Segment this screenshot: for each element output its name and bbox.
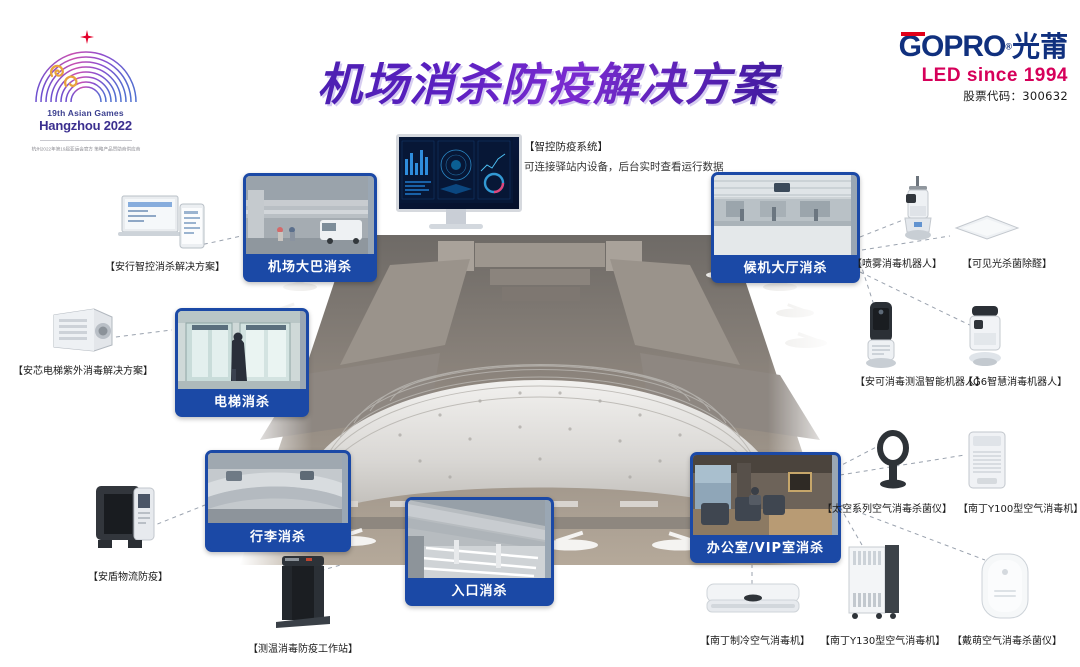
product-nanding-y100-icon [963,428,1011,494]
page-title: 机场消杀防疫解决方案 [312,56,782,114]
card-office-caption: 办公室/VIP室消杀 [693,538,838,560]
product-daimeng-label: 【戴萌空气消毒杀菌仪】 [952,632,1062,647]
monitor-base [429,224,483,229]
brand-wordmark-row: GOPRO®光莆 [858,30,1068,64]
product-anxin-uv-icon [48,305,118,355]
card-entrance-caption: 入口消杀 [408,581,551,603]
dashboard-screen [396,134,522,212]
card-elevator-photo [178,311,306,389]
card-bus-caption: 机场大巴消杀 [246,257,374,279]
registered-mark: ® [1005,42,1012,52]
product-anxing-icon [118,192,208,250]
card-bus[interactable]: 机场大巴消杀 [243,173,377,282]
product-station-label: 【测温消毒防疫工作站】 [248,640,358,655]
card-office-photo [693,455,838,535]
brand-tagline: LED since 1994 [858,64,1068,87]
monitor-stand [446,209,466,225]
card-hall-caption: 候机大厅消杀 [714,258,857,280]
product-spray-robot-label: 【喷雾消毒机器人】 [852,255,942,270]
system-note-desc: 可连接驿站内设备，后台实时查看运行数据 [524,159,724,174]
product-anke-robot-icon [858,300,904,370]
asian-games-footnote: 杭州2022年第19届亚运会官方 策略产品赞助商供应商 [29,147,143,153]
brand-wordmark-cn: 光莆 [1012,30,1068,64]
card-entrance[interactable]: 入口消杀 [405,497,554,606]
card-office[interactable]: 办公室/VIP室消杀 [690,452,841,563]
brand-wordmark: GOPRO [899,30,1006,64]
product-spray-robot-icon [896,176,940,242]
card-luggage[interactable]: 行李消杀 [205,450,351,552]
brand-red-bar [901,32,925,36]
card-luggage-caption: 行李消杀 [208,527,348,549]
product-anxin-uv-label: 【安芯电梯紫外消毒解决方案】 [13,362,153,377]
card-hall-photo [714,175,857,255]
product-space-series-label: 【太空系列空气消毒杀菌仪】 [822,500,952,515]
asian-games-logo: 19th Asian Games Hangzhou 2022 杭州2022年第1… [18,28,153,163]
asian-games-name-en: 19th Asian Games [18,108,153,118]
brand-block: GOPRO®光莆 LED since 1994 股票代码：300632 [858,30,1068,105]
product-nanding-y130-label: 【南丁Y130型空气消毒机】 [820,632,945,647]
logo-divider [40,140,132,141]
asian-games-city-year: Hangzhou 2022 [18,118,153,133]
infographic-canvas: 19th Asian Games Hangzhou 2022 杭州2022年第1… [0,0,1080,667]
product-nanding-y130-icon [843,541,905,621]
system-note-title: 【智控防疫系统】 [524,139,608,154]
product-station-icon [272,552,334,632]
product-space-series-icon [872,430,914,492]
product-g6-robot-icon [960,302,1010,370]
card-elevator-caption: 电梯消杀 [178,392,306,414]
product-daimeng-icon [974,550,1036,624]
card-luggage-photo [208,453,348,523]
product-anxing-label: 【安行智控消杀解决方案】 [105,258,225,273]
card-hall[interactable]: 候机大厅消杀 [711,172,860,283]
product-visible-light-icon [952,212,1022,242]
asian-games-fan-icon [30,46,142,104]
card-bus-photo [246,176,374,254]
card-entrance-photo [408,500,551,578]
product-nanding-y100-label: 【南丁Y100型空气消毒机】 [958,500,1080,515]
product-g6-label: 【G6智慧消毒机器人】 [963,373,1067,388]
card-elevator[interactable]: 电梯消杀 [175,308,309,417]
product-andun-label: 【安盾物流防疫】 [88,568,168,583]
product-nanding-cool-label: 【南丁制冷空气消毒机】 [700,632,810,647]
control-dashboard-monitor [396,134,516,234]
brand-stock-code: 股票代码：300632 [858,87,1068,105]
spark-icon [80,30,94,44]
product-nanding-cool-icon [703,580,803,622]
product-visible-light-label: 【可见光杀菌除醛】 [962,255,1052,270]
product-andun-icon [90,480,160,552]
